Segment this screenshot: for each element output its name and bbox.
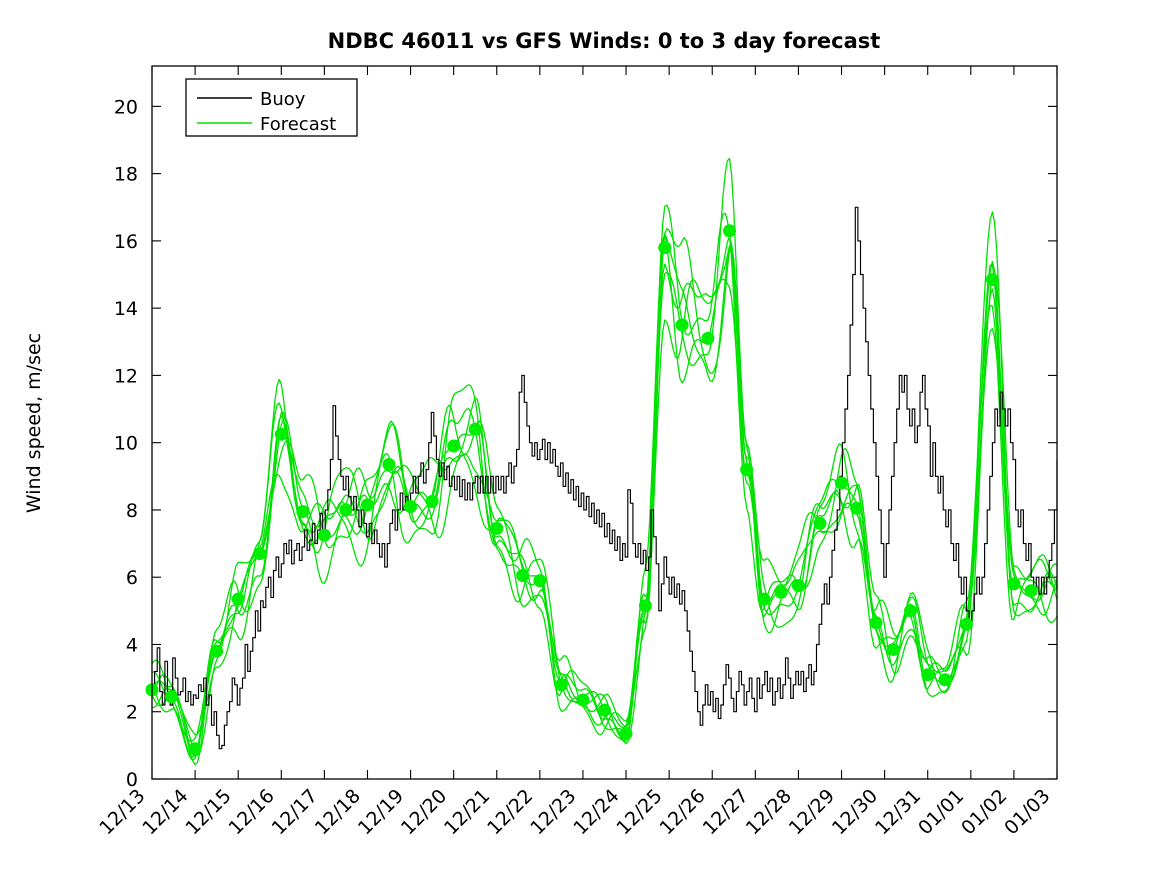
y-tick-label: 18 [114,164,138,186]
daily-mean-marker [850,502,863,515]
daily-mean-marker [658,241,671,254]
y-axis-label: Wind speed, m/sec [23,333,45,513]
daily-mean-marker [361,498,374,511]
y-tick-label: 16 [114,231,138,253]
daily-mean-marker [620,727,633,740]
daily-mean-marker [1025,584,1038,597]
daily-mean-marker [469,423,482,436]
daily-mean-marker [165,690,178,703]
daily-mean-marker [275,428,288,441]
daily-mean-marker [921,668,934,681]
daily-mean-marker [533,574,546,587]
daily-mean-marker [318,529,331,542]
daily-mean-marker [792,579,805,592]
daily-mean-marker [253,547,266,560]
daily-mean-marker [447,440,460,453]
y-tick-label: 14 [114,298,138,320]
y-tick-label: 2 [126,702,138,724]
daily-mean-marker [516,569,529,582]
daily-mean-marker [232,593,245,606]
y-tick-label: 20 [114,96,138,118]
wind-speed-chart: NDBC 46011 vs GFS Winds: 0 to 3 day fore… [0,0,1167,875]
daily-mean-marker [870,616,883,629]
y-tick-label: 8 [126,500,138,522]
daily-mean-marker [639,599,652,612]
y-tick-label: 12 [114,365,138,387]
daily-mean-marker [775,586,788,599]
y-tick-label: 10 [114,433,138,455]
figure-container: NDBC 46011 vs GFS Winds: 0 to 3 day fore… [0,0,1167,875]
chart-background [0,0,1167,875]
daily-mean-marker [986,273,999,286]
y-tick-label: 4 [126,634,138,656]
daily-mean-marker [339,503,352,516]
daily-mean-marker [723,224,736,237]
legend-label-forecast: Forecast [260,114,336,135]
daily-mean-marker [676,319,689,332]
daily-mean-marker [701,332,714,345]
legend: Buoy Forecast [186,79,357,136]
daily-mean-marker [887,643,900,656]
daily-mean-marker [1007,577,1020,590]
daily-mean-marker [383,458,396,471]
daily-mean-marker [296,505,309,518]
daily-mean-marker [577,694,590,707]
daily-mean-marker [835,477,848,490]
daily-mean-marker [904,604,917,617]
daily-mean-marker [960,618,973,631]
daily-mean-marker [426,495,439,508]
daily-mean-marker [740,463,753,476]
daily-mean-marker [939,673,952,686]
daily-mean-marker [210,645,223,658]
daily-mean-marker [555,678,568,691]
legend-label-buoy: Buoy [260,89,306,110]
page-title: NDBC 46011 vs GFS Winds: 0 to 3 day fore… [328,29,881,53]
daily-mean-marker [758,593,771,606]
daily-mean-marker [189,742,202,755]
daily-mean-marker [404,500,417,513]
y-tick-label: 6 [126,567,138,589]
daily-mean-marker [598,704,611,717]
daily-mean-marker [814,517,827,530]
daily-mean-marker [490,522,503,535]
